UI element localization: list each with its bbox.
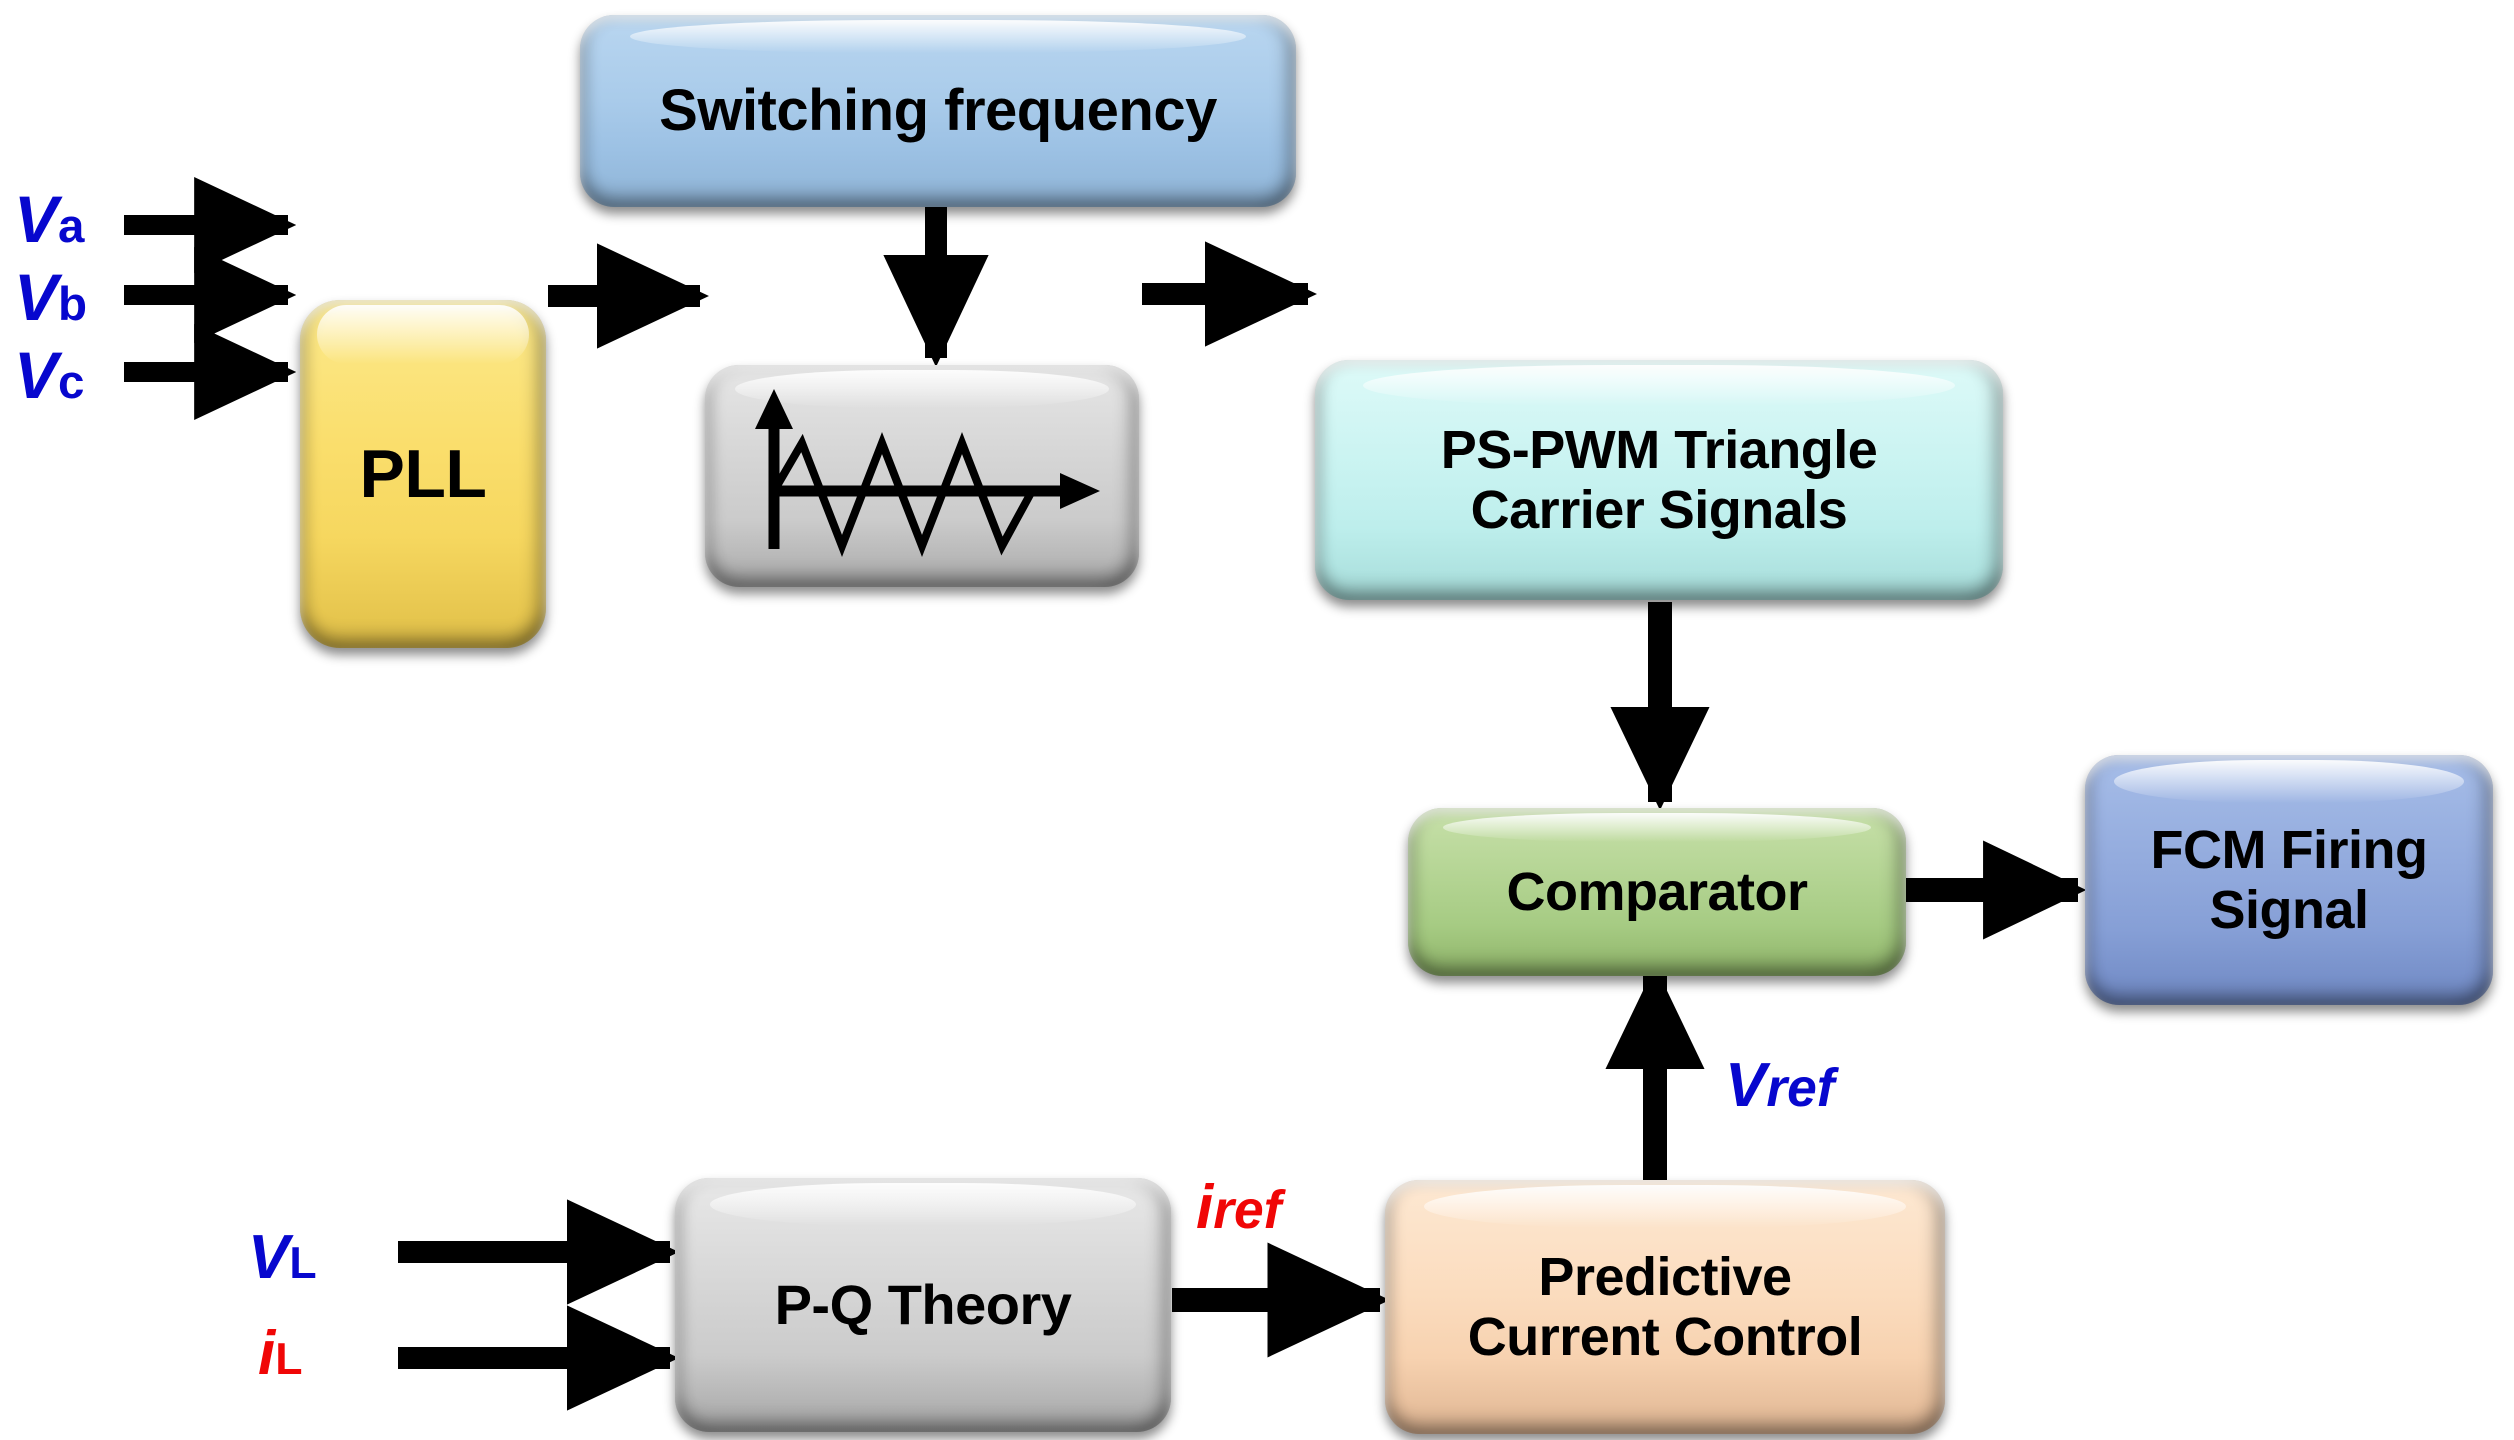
block-pq-theory[interactable]: P-Q Theory xyxy=(675,1178,1171,1432)
vl-subscript: L xyxy=(289,1239,316,1288)
block-diagram-canvas: Switching frequency PLL PS-PWM Triangle xyxy=(0,0,2514,1440)
pcc-label-line1: Predictive xyxy=(1468,1247,1862,1307)
fcm-firing-label-line2: Signal xyxy=(2151,880,2428,940)
ps-pwm-label-line1: PS-PWM Triangle xyxy=(1441,420,1878,480)
signal-label-vb: Vb xyxy=(14,259,87,335)
vb-symbol: V xyxy=(14,260,58,334)
va-symbol: V xyxy=(14,182,58,256)
iref-subscript: ref xyxy=(1213,1181,1281,1240)
block-comparator[interactable]: Comparator xyxy=(1408,808,1906,976)
pcc-label-line2: Current Control xyxy=(1468,1307,1862,1367)
fcm-firing-label: FCM Firing Signal xyxy=(2141,820,2438,941)
predictive-current-control-label: Predictive Current Control xyxy=(1458,1247,1872,1368)
il-symbol: i xyxy=(258,1319,275,1388)
vl-symbol: V xyxy=(248,1223,289,1292)
vref-subscript: ref xyxy=(1766,1059,1834,1118)
triangle-carrier-waveform-icon xyxy=(712,381,1132,571)
comparator-label: Comparator xyxy=(1496,862,1817,922)
signal-label-iref: iref xyxy=(1196,1172,1281,1243)
signal-label-vl: VL xyxy=(248,1222,317,1293)
block-fcm-firing-signal[interactable]: FCM Firing Signal xyxy=(2085,755,2493,1005)
pll-label: PLL xyxy=(350,436,497,512)
block-predictive-current-control[interactable]: Predictive Current Control xyxy=(1385,1180,1945,1434)
ps-pwm-label: PS-PWM Triangle Carrier Signals xyxy=(1431,420,1888,541)
signal-label-vc: Vc xyxy=(14,337,84,413)
switching-frequency-label: Switching frequency xyxy=(649,79,1227,144)
signal-label-vref: Vref xyxy=(1725,1050,1835,1121)
block-pll[interactable]: PLL xyxy=(300,300,546,648)
vref-symbol: V xyxy=(1725,1051,1766,1120)
vc-symbol: V xyxy=(14,338,58,412)
signal-label-il: iL xyxy=(258,1318,303,1389)
pq-theory-label: P-Q Theory xyxy=(765,1274,1082,1337)
va-subscript: a xyxy=(58,200,84,253)
block-carrier-generator[interactable] xyxy=(705,365,1139,587)
vb-subscript: b xyxy=(58,278,87,331)
signal-label-va: Va xyxy=(14,181,84,257)
block-switching-frequency[interactable]: Switching frequency xyxy=(580,15,1296,207)
iref-symbol: i xyxy=(1196,1173,1213,1242)
ps-pwm-label-line2: Carrier Signals xyxy=(1441,480,1878,540)
block-ps-pwm-triangle-carrier-signals[interactable]: PS-PWM Triangle Carrier Signals xyxy=(1315,360,2003,600)
vc-subscript: c xyxy=(58,356,84,409)
il-subscript: L xyxy=(275,1335,302,1384)
fcm-firing-label-line1: FCM Firing xyxy=(2151,820,2428,880)
